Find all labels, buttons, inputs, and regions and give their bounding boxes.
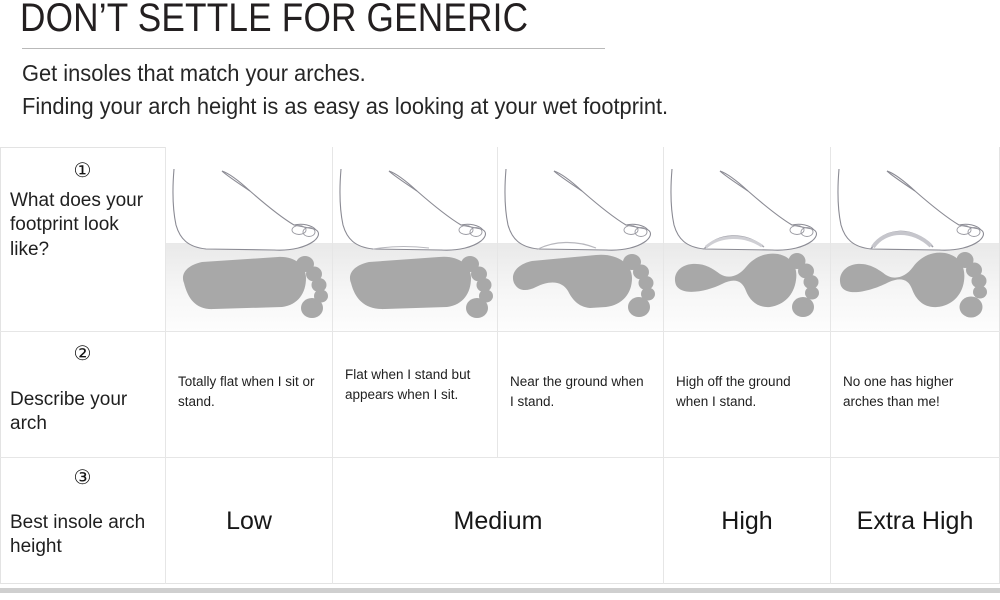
row-3-label: Best insole arch height	[0, 511, 165, 560]
arch-comparison-table: ① What does your footprint look like?	[0, 147, 1000, 584]
footprint-svg-extra-high	[831, 147, 999, 331]
arch-description-low: Flat when I stand but appears when I sit…	[333, 365, 497, 404]
arch-description-extra-high: No one has higher arches than me!	[831, 372, 999, 411]
footprint-svg-high	[664, 147, 830, 331]
bottom-bar	[0, 588, 1000, 593]
arch-description-flat: Totally flat when I sit or stand.	[166, 372, 332, 411]
row-divider-2	[0, 457, 1000, 458]
arch-description-medium: Near the ground when I stand.	[498, 372, 663, 411]
subtitle-line-1: Get insoles that match your arches.	[22, 60, 366, 87]
step-number-2: ②	[0, 343, 165, 363]
arch-height-extra-high: Extra High	[831, 507, 999, 536]
row-divider-1	[0, 331, 1000, 332]
arch-height-guide-page: DON’T SETTLE FOR GENERIC Get insoles tha…	[0, 0, 1000, 600]
footprint-svg-flat	[166, 147, 332, 331]
footprint-illustration-flat	[166, 147, 332, 331]
footprint-illustration-high	[664, 147, 830, 331]
title-divider	[22, 48, 605, 49]
row-2-label-cell: ② Describe your arch	[0, 343, 165, 437]
footprint-illustration-medium	[498, 147, 663, 331]
subtitle-line-2: Finding your arch height is as easy as l…	[22, 93, 668, 120]
row-2-label: Describe your arch	[0, 388, 165, 437]
row-1-label: What does your footprint look like?	[0, 189, 165, 262]
footprint-illustration-low	[333, 147, 497, 331]
arch-description-high: High off the ground when I stand.	[664, 372, 830, 411]
step-number-1: ①	[0, 160, 165, 180]
step-number-3: ③	[0, 467, 165, 487]
footprint-svg-medium	[498, 147, 663, 331]
footprint-illustration-extra-high	[831, 147, 999, 331]
row-3-label-cell: ③ Best insole arch height	[0, 467, 165, 560]
arch-height-low: Low	[166, 507, 332, 536]
footprint-svg-low	[333, 147, 497, 331]
arch-height-high: High	[664, 507, 830, 536]
page-title: DON’T SETTLE FOR GENERIC	[20, 0, 528, 41]
row-1-label-cell: ① What does your footprint look like?	[0, 160, 165, 262]
arch-height-medium: Medium	[333, 507, 663, 536]
